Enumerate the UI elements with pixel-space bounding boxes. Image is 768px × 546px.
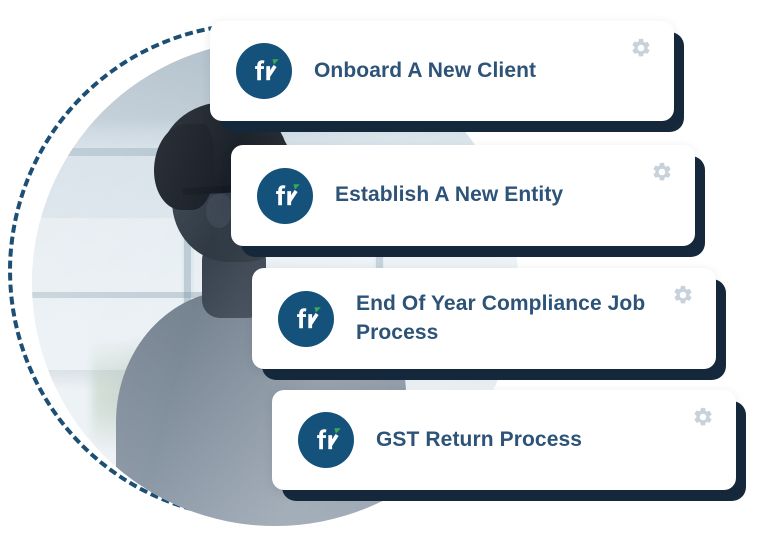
card-surface[interactable]: GST Return Process [272,390,736,490]
fyi-logo-icon [278,291,334,347]
fyi-logo-icon [298,412,354,468]
process-templates-illustration: Onboard A New Client Establish A New Ent… [0,0,768,546]
card-surface[interactable]: Onboard A New Client [210,21,674,121]
fyi-logo-icon [257,168,313,224]
photo-person-hair-back [154,124,214,210]
process-card-gst-return-process[interactable]: GST Return Process [272,390,736,490]
process-card-onboard-a-new-client[interactable]: Onboard A New Client [210,21,674,121]
card-title: End Of Year Compliance Job Process [356,290,646,346]
card-surface[interactable]: End Of Year Compliance Job Process [252,268,716,369]
card-title: GST Return Process [376,426,582,454]
process-card-establish-a-new-entity[interactable]: Establish A New Entity [231,145,695,246]
gear-icon[interactable] [651,161,673,183]
process-card-end-of-year-compliance-job-process[interactable]: End Of Year Compliance Job Process [252,268,716,369]
card-surface[interactable]: Establish A New Entity [231,145,695,246]
gear-icon[interactable] [630,37,652,59]
gear-icon[interactable] [672,284,694,306]
photo-person-ear [206,194,232,228]
fyi-logo-icon [236,43,292,99]
card-title: Establish A New Entity [335,181,563,209]
card-title: Onboard A New Client [314,57,536,85]
gear-icon[interactable] [692,406,714,428]
